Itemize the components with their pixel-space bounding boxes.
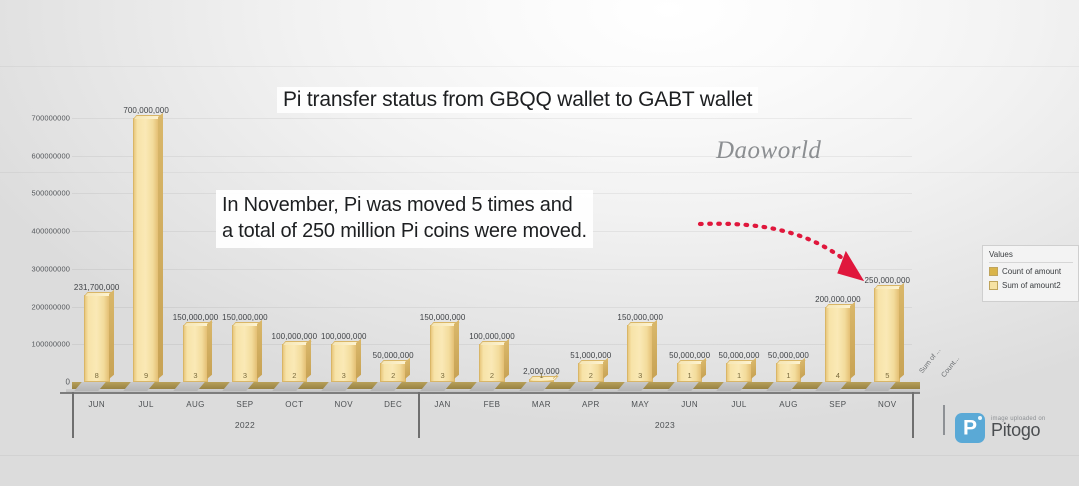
x-axis-category-label: DEC	[384, 400, 402, 409]
x-axis-group-separator	[418, 392, 420, 438]
bar-side-face	[751, 358, 756, 379]
y-axis-tick-label: 300000000	[32, 264, 70, 273]
x-axis-category-label: FEB	[484, 400, 501, 409]
bar-value-label: 231,700,000	[74, 283, 120, 292]
bar[interactable]	[133, 118, 159, 382]
pitogo-letter-p: P	[955, 418, 985, 439]
bar-side-face	[109, 289, 114, 379]
bar-column[interactable]: 231,700,0008	[84, 295, 110, 382]
bar-count-label: 3	[638, 371, 642, 380]
legend-header: Values	[989, 250, 1073, 263]
bar-count-label: 2	[391, 371, 395, 380]
y-axis-tick-label: 0	[65, 378, 70, 387]
legend-item-count-of-amount[interactable]: Count of amount	[989, 267, 1073, 276]
bar-value-label: 50,000,000	[669, 351, 710, 360]
x-axis-category-label: MAR	[532, 400, 551, 409]
bar-column[interactable]: 150,000,0003	[183, 325, 209, 382]
bar-count-label: 2	[490, 371, 494, 380]
x-axis-group-label: 2023	[655, 420, 675, 430]
legend-label-sum: Sum of amount2	[1002, 281, 1061, 290]
bar-side-face	[454, 320, 459, 379]
x-axis-category-label: SEP	[236, 400, 253, 409]
badge-brand: Pitogo	[991, 420, 1045, 441]
x-axis-category-label: MAY	[631, 400, 649, 409]
legend-item-sum-of-amount2[interactable]: Sum of amount2	[989, 281, 1073, 290]
bar-column[interactable]: 150,000,0003	[627, 325, 653, 382]
legend-label-count: Count of amount	[1002, 267, 1061, 276]
bar-count-label: 1	[688, 371, 692, 380]
x-axis: JUNJULAUGSEPOCTNOVDECJANFEBMARAPRMAYJUNJ…	[60, 392, 920, 444]
bar-count-label: 3	[440, 371, 444, 380]
bar-column[interactable]: 50,000,0001	[776, 363, 802, 382]
bar-column[interactable]: 200,000,0004	[825, 307, 851, 382]
bar-value-label: 100,000,000	[272, 332, 318, 341]
bar-column[interactable]: 50,000,0001	[677, 363, 703, 382]
x-axis-category-label: AUG	[186, 400, 205, 409]
bar-value-label: 150,000,000	[420, 313, 466, 322]
bar-side-face	[306, 339, 311, 379]
bar-count-label: 1	[539, 371, 543, 380]
bar-column[interactable]: 150,000,0003	[232, 325, 258, 382]
bar-column[interactable]: 100,000,0002	[282, 344, 308, 382]
badge-divider	[943, 405, 945, 435]
series-label-count: Count...	[940, 355, 961, 379]
bar-value-label: 50,000,000	[373, 351, 414, 360]
x-axis-category-label: JAN	[434, 400, 450, 409]
bar-column[interactable]: 700,000,0009	[133, 118, 159, 382]
bar-count-label: 4	[836, 371, 840, 380]
pitogo-logo-dot	[978, 416, 982, 420]
bar-column[interactable]: 100,000,0003	[331, 344, 357, 382]
bar[interactable]	[84, 295, 110, 382]
y-axis: 0100000000200000000300000000400000000500…	[8, 112, 70, 388]
y-axis-tick-label: 700000000	[32, 114, 70, 123]
slide-canvas: 0100000000200000000300000000400000000500…	[0, 0, 1079, 486]
bar-side-face	[850, 301, 855, 379]
bar-value-label: 50,000,000	[768, 351, 809, 360]
bar-count-label: 5	[885, 371, 889, 380]
y-axis-tick-label: 500000000	[32, 189, 70, 198]
bar-count-label: 3	[243, 371, 247, 380]
x-axis-group-separator	[912, 392, 914, 438]
callout-line-2: a total of 250 million Pi coins were mov…	[222, 218, 587, 244]
x-axis-category-label: JUL	[138, 400, 153, 409]
chart-title: Pi transfer status from GBQQ wallet to G…	[277, 87, 758, 113]
legend-swatch-count	[989, 267, 998, 276]
bar-count-label: 9	[144, 371, 148, 380]
bar-count-label: 1	[786, 371, 790, 380]
x-axis-category-label: JUN	[88, 400, 105, 409]
pitogo-upload-badge: P image uploaded on Pitogo	[955, 413, 1045, 443]
x-axis-group-label: 2022	[235, 420, 255, 430]
x-axis-category-label: OCT	[285, 400, 303, 409]
x-axis-category-label: JUN	[681, 400, 698, 409]
legend[interactable]: Values Count of amount Sum of amount2	[982, 245, 1079, 302]
bar-count-label: 1	[737, 371, 741, 380]
callout-arrow-icon	[690, 212, 930, 302]
annotation-callout: In November, Pi was moved 5 times and a …	[216, 190, 593, 248]
bar-value-label: 100,000,000	[321, 332, 367, 341]
x-axis-category-label: SEP	[829, 400, 846, 409]
bar-side-face	[207, 320, 212, 379]
bar-value-label: 50,000,000	[719, 351, 760, 360]
bar-value-label: 700,000,000	[123, 106, 169, 115]
bar-value-label: 100,000,000	[469, 332, 515, 341]
x-axis-category-label: APR	[582, 400, 600, 409]
bar-side-face	[652, 320, 657, 379]
y-axis-tick-label: 400000000	[32, 227, 70, 236]
x-axis-category-label: AUG	[779, 400, 798, 409]
x-axis-category-label: JUL	[731, 400, 746, 409]
bar-column[interactable]: 50,000,0002	[380, 363, 406, 382]
bar-value-label: 150,000,000	[617, 313, 663, 322]
y-axis-tick-label: 200000000	[32, 302, 70, 311]
daoworld-watermark: Daoworld	[716, 137, 821, 165]
bar-count-label: 3	[342, 371, 346, 380]
series-label-sum: Sum of ...	[918, 347, 942, 375]
bar-column[interactable]: 150,000,0003	[430, 325, 456, 382]
bar-column[interactable]: 50,000,0001	[726, 363, 752, 382]
x-axis-line	[60, 392, 920, 394]
bar-side-face	[800, 358, 805, 379]
legend-swatch-sum	[989, 281, 998, 290]
x-axis-category-label: NOV	[878, 400, 897, 409]
bar-side-face	[356, 339, 361, 379]
bar-count-label: 2	[589, 371, 593, 380]
bar-side-face	[158, 113, 163, 379]
bar-count-label: 3	[193, 371, 197, 380]
y-axis-tick-label: 100000000	[32, 340, 70, 349]
bar-value-label: 51,000,000	[570, 351, 611, 360]
bar-side-face	[504, 339, 509, 379]
bar-side-face	[257, 320, 262, 379]
bar-value-label: 150,000,000	[222, 313, 268, 322]
bar-column[interactable]: 100,000,0002	[479, 344, 505, 382]
bar-value-label: 150,000,000	[173, 313, 219, 322]
bar-side-face	[405, 358, 410, 379]
bar-side-face	[603, 358, 608, 379]
x-axis-group-separator	[72, 392, 74, 438]
pitogo-logo-icon: P	[955, 413, 985, 443]
bar-count-label: 8	[95, 371, 99, 380]
bar-column[interactable]: 51,000,0002	[578, 363, 604, 382]
y-axis-tick-label: 600000000	[32, 151, 70, 160]
x-axis-category-label: NOV	[334, 400, 353, 409]
badge-text: image uploaded on Pitogo	[991, 416, 1045, 441]
callout-line-1: In November, Pi was moved 5 times and	[222, 192, 587, 218]
bar-side-face	[701, 358, 706, 379]
bar-count-label: 2	[292, 371, 296, 380]
